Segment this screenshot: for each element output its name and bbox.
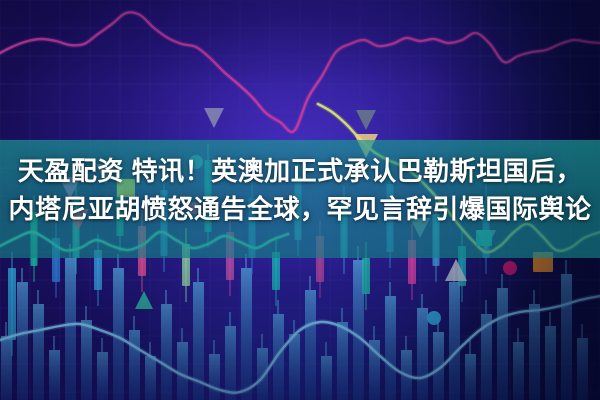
headline-line-1: 天盈配资 特讯！英澳加正式承认巴勒斯坦国后， (0, 152, 600, 190)
headline-block: 天盈配资 特讯！英澳加正式承认巴勒斯坦国后， 内塔尼亚胡愤怒通告全球，罕见言辞引… (0, 152, 600, 228)
news-banner: 天盈配资 特讯！英澳加正式承认巴勒斯坦国后， 内塔尼亚胡愤怒通告全球，罕见言辞引… (0, 0, 600, 400)
headline-line-2: 内塔尼亚胡愤怒通告全球，罕见言辞引爆国际舆论 (0, 190, 600, 228)
